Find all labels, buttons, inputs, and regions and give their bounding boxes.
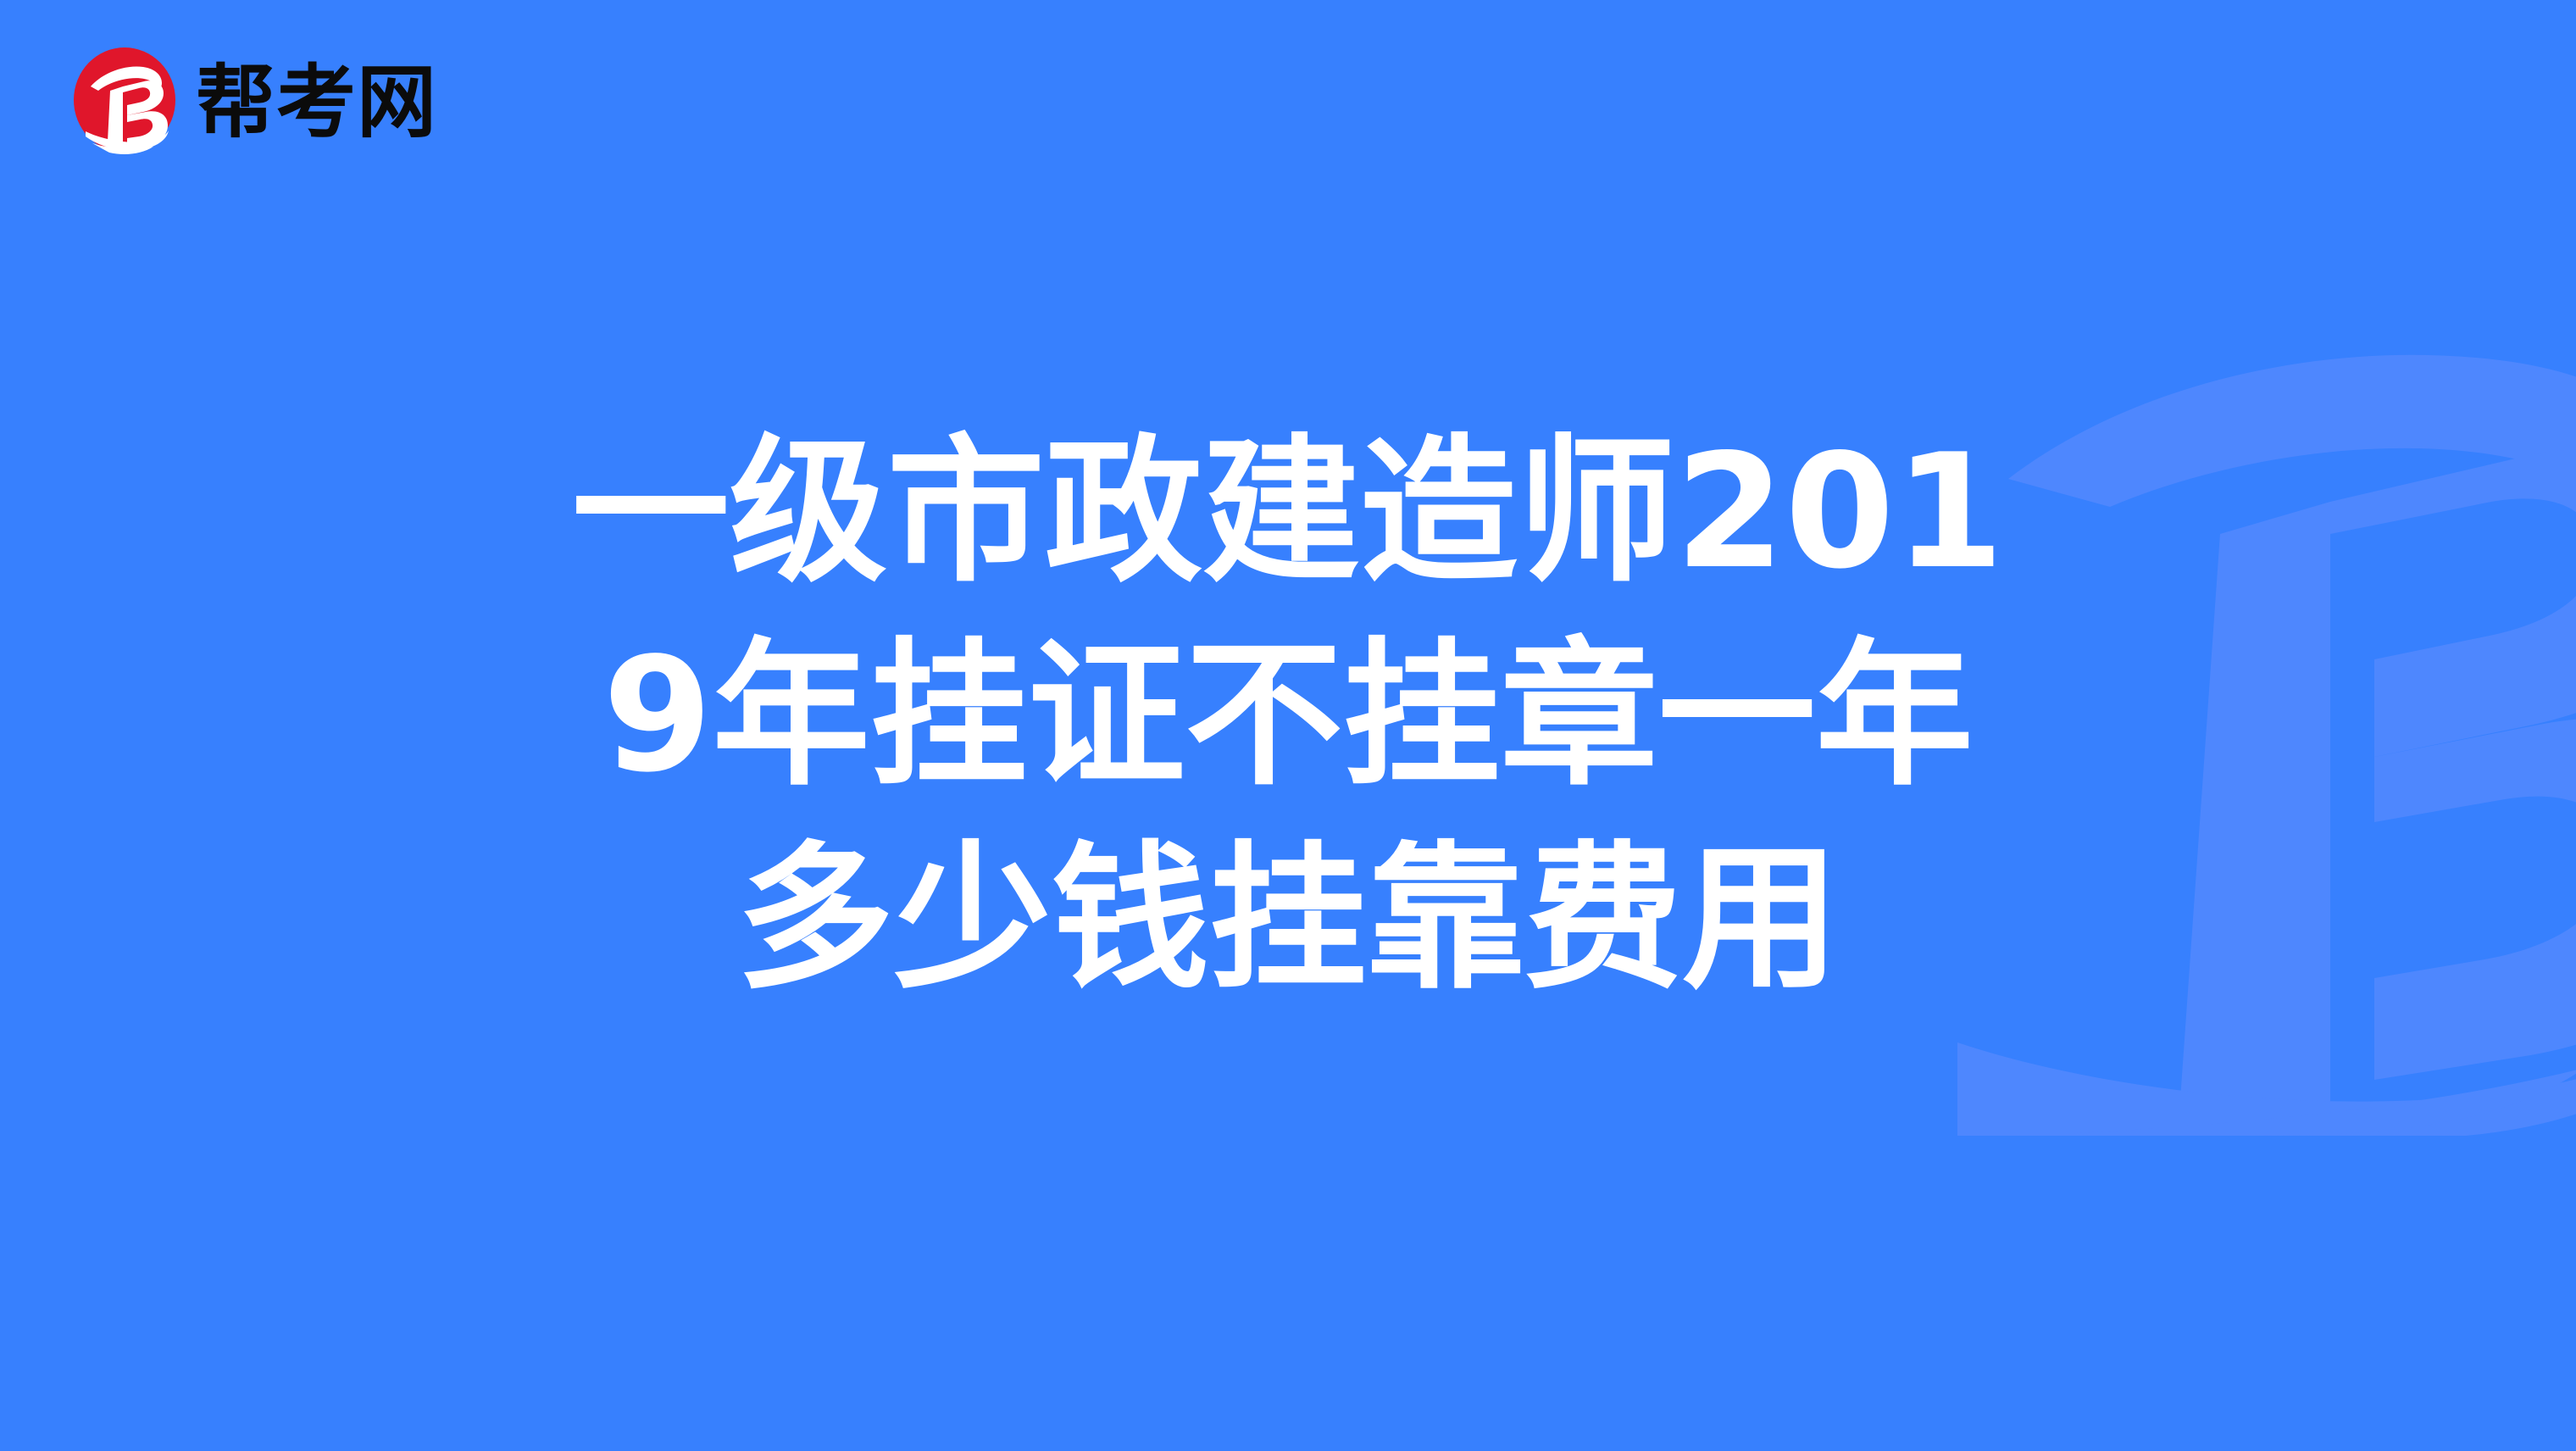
brand-name: 帮考网 xyxy=(196,64,437,143)
page-title: 一级市政建造师2019年挂证不挂章一年多少钱挂靠费用 xyxy=(568,410,2008,1020)
poster-canvas: 帮考网 一级市政建造师2019年挂证不挂章一年多少钱挂靠费用 xyxy=(0,0,2576,1451)
brand-mark-icon xyxy=(72,47,177,155)
brand-logo[interactable]: 帮考网 xyxy=(72,47,437,155)
headline-container: 一级市政建造师2019年挂证不挂章一年多少钱挂靠费用 xyxy=(0,0,2576,1451)
